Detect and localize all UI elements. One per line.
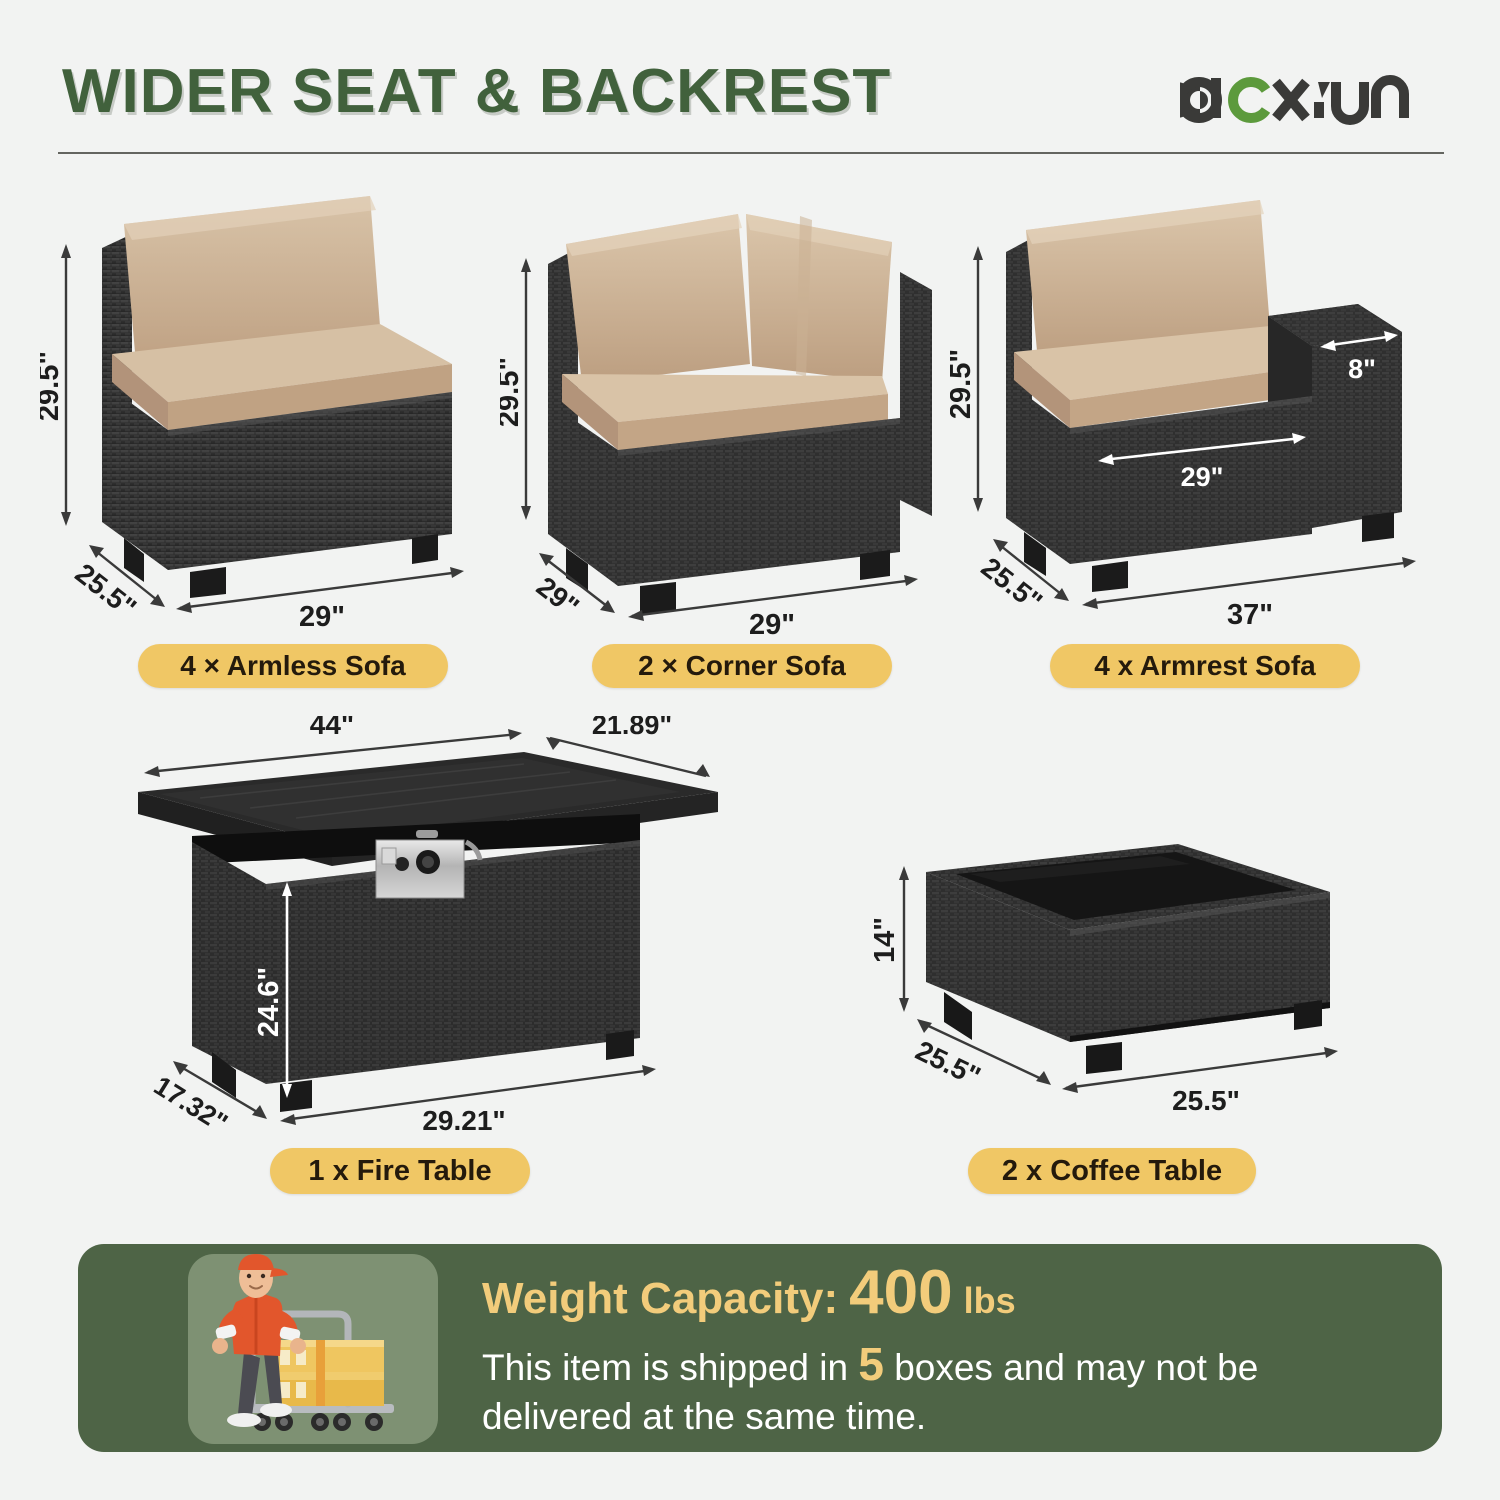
dim-fire-top-width: 21.89" [592,716,672,740]
shipping-note: This item is shipped in 5 boxes and may … [482,1336,1382,1441]
badge-coffee-table: 2 x Coffee Table [968,1148,1256,1194]
dim-armrest-width: 37" [1227,599,1273,631]
dim-armless-width: 29" [299,601,345,633]
shipping-prefix: This item is shipped in [482,1347,848,1388]
page-title: WIDER SEAT & BACKREST [62,56,891,127]
weight-capacity-value: 400 [849,1262,952,1324]
dim-fire-top-length: 44" [310,716,354,740]
product-armless-sofa: 29.5" 25.5" 29" [40,186,510,636]
badge-fire-table: 1 x Fire Table [270,1148,530,1194]
dim-armless-height: 29.5" [40,351,65,421]
shipping-banner: Weight Capacity: 400 lbs This item is sh… [78,1244,1442,1452]
dim-armrest-height: 29.5" [950,349,977,419]
dim-armrest-seat-width: 29" [1181,462,1224,492]
badge-armrest-sofa: 4 x Armrest Sofa [1050,644,1360,688]
dim-fire-height: 24.6" [253,967,285,1037]
badge-corner-sofa: 2 × Corner Sofa [592,644,892,688]
dim-coffee-depth: 25.5" [911,1035,986,1093]
dim-armrest-arm-width: 8" [1348,354,1376,384]
dim-coffee-height: 14" [869,917,901,963]
weight-capacity-line: Weight Capacity: 400 lbs [482,1262,1016,1324]
shipping-box-count: 5 [858,1338,884,1390]
weight-capacity-unit: lbs [964,1280,1016,1322]
dim-corner-width: 29" [749,609,795,636]
product-armrest-sofa: 29.5" 25.5" 37" 29" 8" [950,186,1450,636]
delivery-illustration [188,1254,438,1444]
dim-fire-base-width: 29.21" [422,1105,505,1136]
header: WIDER SEAT & BACKREST [0,0,1500,160]
infographic-page: WIDER SEAT & BACKREST [0,0,1500,1500]
product-fire-table: 44" 21.89" 24.6" 17.32" 29.21" [120,716,740,1136]
weight-capacity-label: Weight Capacity: [482,1274,838,1324]
badge-armless-sofa: 4 × Armless Sofa [138,644,448,688]
product-corner-sofa: 29.5" 29" 29" [500,186,970,636]
brand-logo [1180,58,1440,130]
header-divider [58,152,1444,154]
dim-corner-height: 29.5" [500,357,525,427]
dim-coffee-width: 25.5" [1172,1085,1240,1116]
product-coffee-table: 14" 25.5" 25.5" [860,826,1360,1146]
